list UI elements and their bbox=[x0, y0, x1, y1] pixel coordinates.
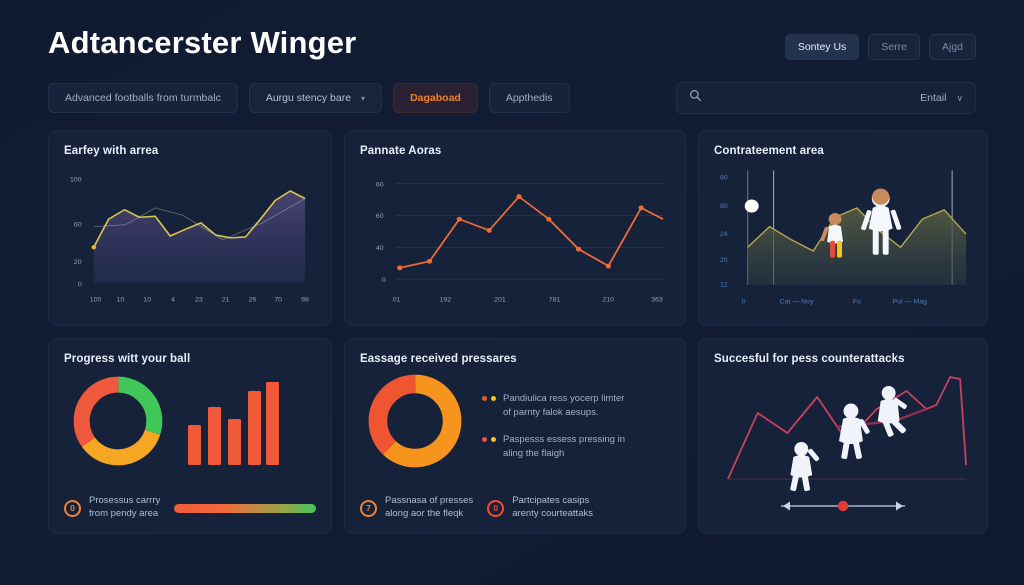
svg-text:26: 26 bbox=[249, 297, 257, 304]
pannate-line-chart: 60 60 40 0 01 192 201 781 bbox=[360, 161, 670, 311]
progress-stat: 0 Prosessus carrry from pendy area bbox=[64, 495, 160, 521]
cards-grid: Earfey with arrea 100 60 20 0 bbox=[48, 130, 976, 534]
search-scope-label[interactable]: Entail bbox=[920, 92, 946, 104]
eassage-stat-text: Partcipates casips arenty courteattaks bbox=[512, 495, 593, 521]
chevron-down-icon: ▾ bbox=[361, 94, 365, 103]
svg-text:Pol — Mag: Pol — Mag bbox=[893, 299, 928, 306]
svg-text:20: 20 bbox=[74, 259, 82, 266]
progress-bar-chart bbox=[184, 377, 280, 470]
svg-text:100: 100 bbox=[70, 177, 82, 184]
svg-text:01: 01 bbox=[393, 297, 401, 304]
serre-button[interactable]: Serre bbox=[868, 34, 920, 60]
progress-stat-line1: Prosessus carrry bbox=[89, 495, 160, 508]
contrateement-area-chart: 80 80 24 20 12 bbox=[714, 161, 972, 311]
svg-text:0: 0 bbox=[742, 299, 746, 306]
svg-text:60: 60 bbox=[376, 182, 384, 189]
page-title: Adtancerster Winger bbox=[48, 26, 356, 60]
eassage-visuals: Pandiulica ress yocerp limter of parnty … bbox=[360, 369, 670, 473]
svg-text:12: 12 bbox=[720, 282, 728, 289]
legend-dots-icon bbox=[482, 433, 496, 442]
svg-text:0: 0 bbox=[382, 277, 386, 284]
chevron-down-icon[interactable]: ∨ bbox=[956, 93, 963, 104]
filter-chip-advanced[interactable]: Advanced footballs from turmbalc bbox=[48, 83, 238, 113]
eassage-stat-presses: 7 Passnasa of presses along aor the fleq… bbox=[360, 495, 473, 521]
stat-line2: arenty courteattaks bbox=[512, 508, 593, 521]
contact-us-button[interactable]: Sontey Us bbox=[785, 34, 859, 60]
svg-text:60: 60 bbox=[74, 222, 82, 229]
earfey-area-chart: 100 60 20 0 100 10 10 4 23 21 26 70 bbox=[64, 161, 316, 311]
progress-visuals bbox=[64, 369, 316, 473]
stat-line1: Partcipates casips bbox=[512, 495, 593, 508]
legend-line2: of parnty falok aesups. bbox=[503, 407, 599, 418]
filter-chip-stency-label: Aurgu stency bare bbox=[266, 92, 351, 104]
progress-stat-text: Prosessus carrry from pendy area bbox=[89, 495, 160, 521]
status-badge: 7 bbox=[360, 500, 377, 517]
ajgd-button[interactable]: Ajgd bbox=[929, 34, 976, 60]
svg-text:363: 363 bbox=[651, 297, 663, 304]
search-bar[interactable]: Entail ∨ bbox=[676, 82, 976, 114]
svg-text:70: 70 bbox=[274, 297, 282, 304]
progress-donut-chart bbox=[70, 373, 166, 474]
svg-text:201: 201 bbox=[494, 297, 506, 304]
svg-text:20: 20 bbox=[720, 257, 728, 264]
eassage-stat-participation: 0 Partcipates casips arenty courteattaks bbox=[487, 495, 593, 521]
legend-line1: Pandiulica ress yocerp limter bbox=[503, 393, 624, 404]
progress-stat-line2: from pendy area bbox=[89, 508, 160, 521]
eassage-footer: 7 Passnasa of presses along aor the fleq… bbox=[360, 495, 670, 521]
card-title: Pannate Aoras bbox=[360, 145, 670, 157]
svg-text:0: 0 bbox=[78, 282, 82, 289]
legend-line1: Paspesss essess pressing in bbox=[503, 434, 625, 445]
svg-text:210: 210 bbox=[602, 297, 614, 304]
card-succesful-counterattacks[interactable]: Succesful for pess counterattacks bbox=[698, 338, 988, 534]
svg-text:10: 10 bbox=[143, 297, 151, 304]
progress-bar[interactable] bbox=[174, 504, 316, 513]
card-title: Eassage received pressares bbox=[360, 353, 670, 365]
top-actions: Sontey Us Serre Ajgd bbox=[785, 26, 976, 60]
card-title: Earfey with arrea bbox=[64, 145, 316, 157]
svg-text:98: 98 bbox=[301, 297, 309, 304]
card-contrateement-area[interactable]: Contrateement area 80 80 24 20 12 bbox=[698, 130, 988, 326]
dashboard-page: Adtancerster Winger Sontey Us Serre Ajgd… bbox=[0, 0, 1024, 534]
legend-text: Paspesss essess pressing in aling the fl… bbox=[503, 433, 625, 460]
card-earfey-with-arrea[interactable]: Earfey with arrea 100 60 20 0 bbox=[48, 130, 332, 326]
svg-text:Fo: Fo bbox=[853, 299, 861, 306]
svg-text:100: 100 bbox=[90, 297, 102, 304]
status-badge: 0 bbox=[64, 500, 81, 517]
legend-dots-icon bbox=[482, 392, 496, 401]
svg-text:80: 80 bbox=[720, 203, 728, 210]
svg-text:60: 60 bbox=[376, 213, 384, 220]
svg-text:Cat — Noy: Cat — Noy bbox=[779, 299, 814, 306]
svg-text:40: 40 bbox=[376, 245, 384, 252]
card-progress-with-ball[interactable]: Progress witt your ball bbox=[48, 338, 332, 534]
filter-bar: Advanced footballs from turmbalc Aurgu s… bbox=[48, 82, 976, 114]
stat-line1: Passnasa of presses bbox=[385, 495, 473, 508]
eassage-stat-text: Passnasa of presses along aor the fleqk bbox=[385, 495, 473, 521]
svg-text:781: 781 bbox=[549, 297, 561, 304]
card-title: Succesful for pess counterattacks bbox=[714, 353, 972, 365]
legend-item: Paspesss essess pressing in aling the fl… bbox=[482, 433, 625, 460]
legend-line2: aling the flaigh bbox=[503, 448, 564, 459]
card-title: Progress witt your ball bbox=[64, 353, 316, 365]
search-icon bbox=[689, 89, 702, 107]
filter-chip-appthedis[interactable]: Appthedis bbox=[489, 83, 570, 113]
svg-text:80: 80 bbox=[720, 175, 728, 182]
card-eassage-received-pressares[interactable]: Eassage received pressares bbox=[344, 338, 686, 534]
svg-text:21: 21 bbox=[222, 297, 230, 304]
topbar: Adtancerster Winger Sontey Us Serre Ajgd bbox=[48, 26, 976, 60]
svg-text:192: 192 bbox=[439, 297, 451, 304]
svg-text:4: 4 bbox=[171, 297, 175, 304]
eassage-legend: Pandiulica ress yocerp limter of parnty … bbox=[482, 386, 625, 460]
stat-line2: along aor the fleqk bbox=[385, 508, 473, 521]
timeline-slider[interactable] bbox=[699, 497, 987, 515]
filter-chip-stency-dropdown[interactable]: Aurgu stency bare ▾ bbox=[249, 83, 382, 113]
eassage-donut-chart bbox=[366, 372, 464, 475]
card-title: Contrateement area bbox=[714, 145, 972, 157]
status-badge: 0 bbox=[487, 500, 504, 517]
svg-text:24: 24 bbox=[720, 231, 728, 238]
legend-item: Pandiulica ress yocerp limter of parnty … bbox=[482, 392, 625, 419]
progress-footer: 0 Prosessus carrry from pendy area bbox=[64, 495, 316, 521]
legend-text: Pandiulica ress yocerp limter of parnty … bbox=[503, 392, 624, 419]
svg-text:10: 10 bbox=[117, 297, 125, 304]
svg-text:23: 23 bbox=[195, 297, 203, 304]
card-pannate-aoras[interactable]: Pannate Aoras 60 60 40 0 bbox=[344, 130, 686, 326]
filter-chip-dagaboad[interactable]: Dagaboad bbox=[393, 83, 478, 113]
